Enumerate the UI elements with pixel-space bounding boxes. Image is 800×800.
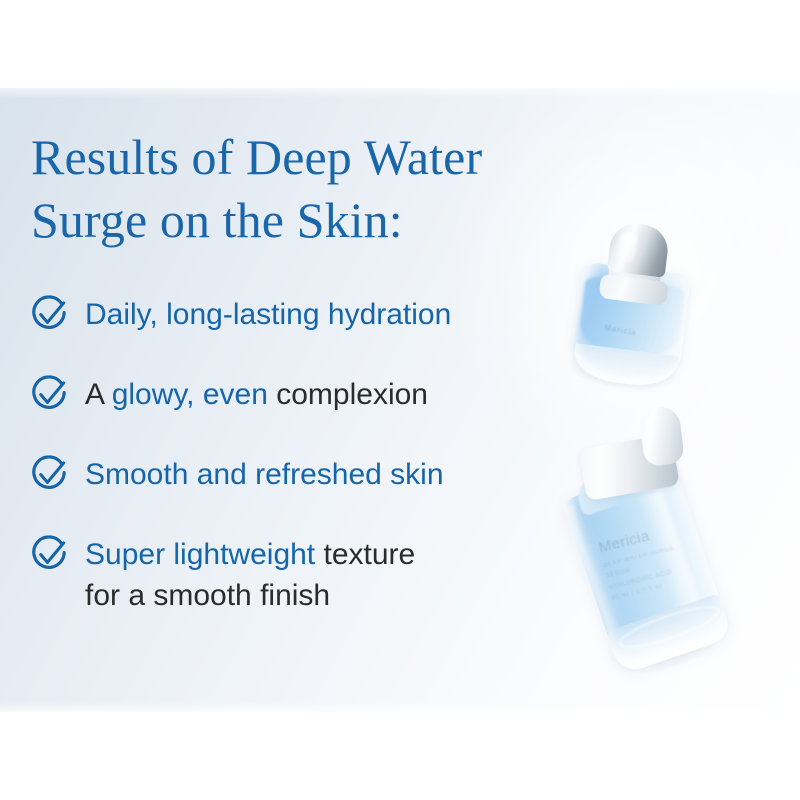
list-item: A glowy, even complexion <box>28 372 548 416</box>
list-item-label: A glowy, even complexion <box>85 372 428 415</box>
list-item-label: Super lightweight texturefor a smooth fi… <box>85 532 415 617</box>
benefit-2-text-a: A <box>85 378 112 411</box>
list-item-label: Smooth and refreshed skin <box>85 452 444 495</box>
benefit-2-text-highlight: glowy, even <box>112 378 268 411</box>
check-circle-icon <box>28 294 70 336</box>
page-title: Results of Deep Water Surge on the Skin: <box>31 126 631 252</box>
benefit-4-text-highlight: Super lightweight <box>85 538 315 571</box>
list-item-label: Daily, long-lasting hydration <box>85 292 451 335</box>
check-circle-icon <box>28 454 70 496</box>
list-item: Smooth and refreshed skin <box>28 452 548 496</box>
benefit-1-text: Daily, long-lasting hydration <box>85 298 451 331</box>
check-circle-icon <box>28 534 70 576</box>
product-image-pump-bottle: Mericia <box>554 214 711 409</box>
pump-bottle-cap <box>607 221 671 278</box>
poster-canvas: Results of Deep Water Surge on the Skin:… <box>0 0 800 800</box>
benefit-3-text: Smooth and refreshed skin <box>85 458 444 491</box>
benefit-4-text-b: texture <box>315 538 415 571</box>
list-item: Super lightweight texturefor a smooth fi… <box>28 532 548 617</box>
check-circle-icon <box>28 374 70 416</box>
benefit-2-text-c: complexion <box>268 378 428 411</box>
dropper-bottle-bulb <box>638 405 685 467</box>
list-item: Daily, long-lasting hydration <box>28 292 548 336</box>
benefits-list: Daily, long-lasting hydration A glowy, e… <box>28 292 548 617</box>
benefit-4-text-c: for a smooth finish <box>85 579 330 612</box>
